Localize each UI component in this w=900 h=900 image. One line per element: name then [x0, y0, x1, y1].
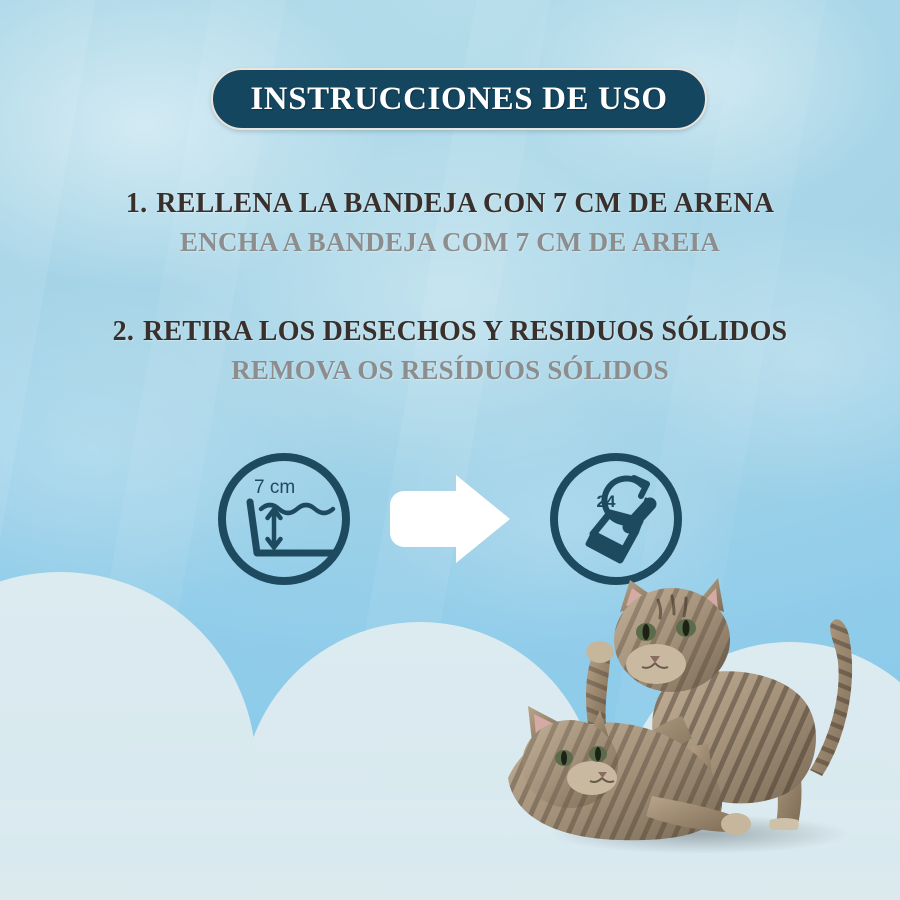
scoop-24h-label: 24 — [597, 492, 616, 511]
step-1-secondary-text: ENCHA A BANDEJA COM 7 CM DE AREIA — [0, 227, 900, 258]
step-1-primary-text: RELLENA LA BANDEJA CON 7 CM DE ARENA — [156, 188, 774, 220]
instruction-step-1: 1. RELLENA LA BANDEJA CON 7 CM DE ARENA … — [0, 188, 900, 258]
arrow-right-icon — [386, 471, 514, 567]
instruction-list: 1. RELLENA LA BANDEJA CON 7 CM DE ARENA … — [0, 188, 900, 386]
litter-depth-label: 7 cm — [254, 477, 295, 498]
instructions-panel: INSTRUCCIONES DE USO 1. RELLENA LA BANDE… — [0, 0, 900, 900]
step-1-primary-line: 1. RELLENA LA BANDEJA CON 7 CM DE ARENA — [0, 188, 900, 220]
step-2-primary-line: 2. RETIRA LOS DESECHOS Y RESIDUOS SÓLIDO… — [0, 316, 900, 348]
step-2-number: 2. — [113, 316, 134, 348]
title-badge-label: INSTRUCCIONES DE USO — [250, 81, 667, 118]
instruction-step-2: 2. RETIRA LOS DESECHOS Y RESIDUOS SÓLIDO… — [0, 316, 900, 386]
step-1-number: 1. — [126, 188, 147, 220]
step-2-secondary-text: REMOVA OS RESÍDUOS SÓLIDOS — [0, 355, 900, 386]
step-2-primary-text: RETIRA LOS DESECHOS Y RESIDUOS SÓLIDOS — [143, 316, 787, 348]
kittens-photo — [470, 566, 900, 866]
title-badge: INSTRUCCIONES DE USO — [211, 68, 707, 130]
litter-depth-icon: 7 cm — [214, 449, 354, 589]
